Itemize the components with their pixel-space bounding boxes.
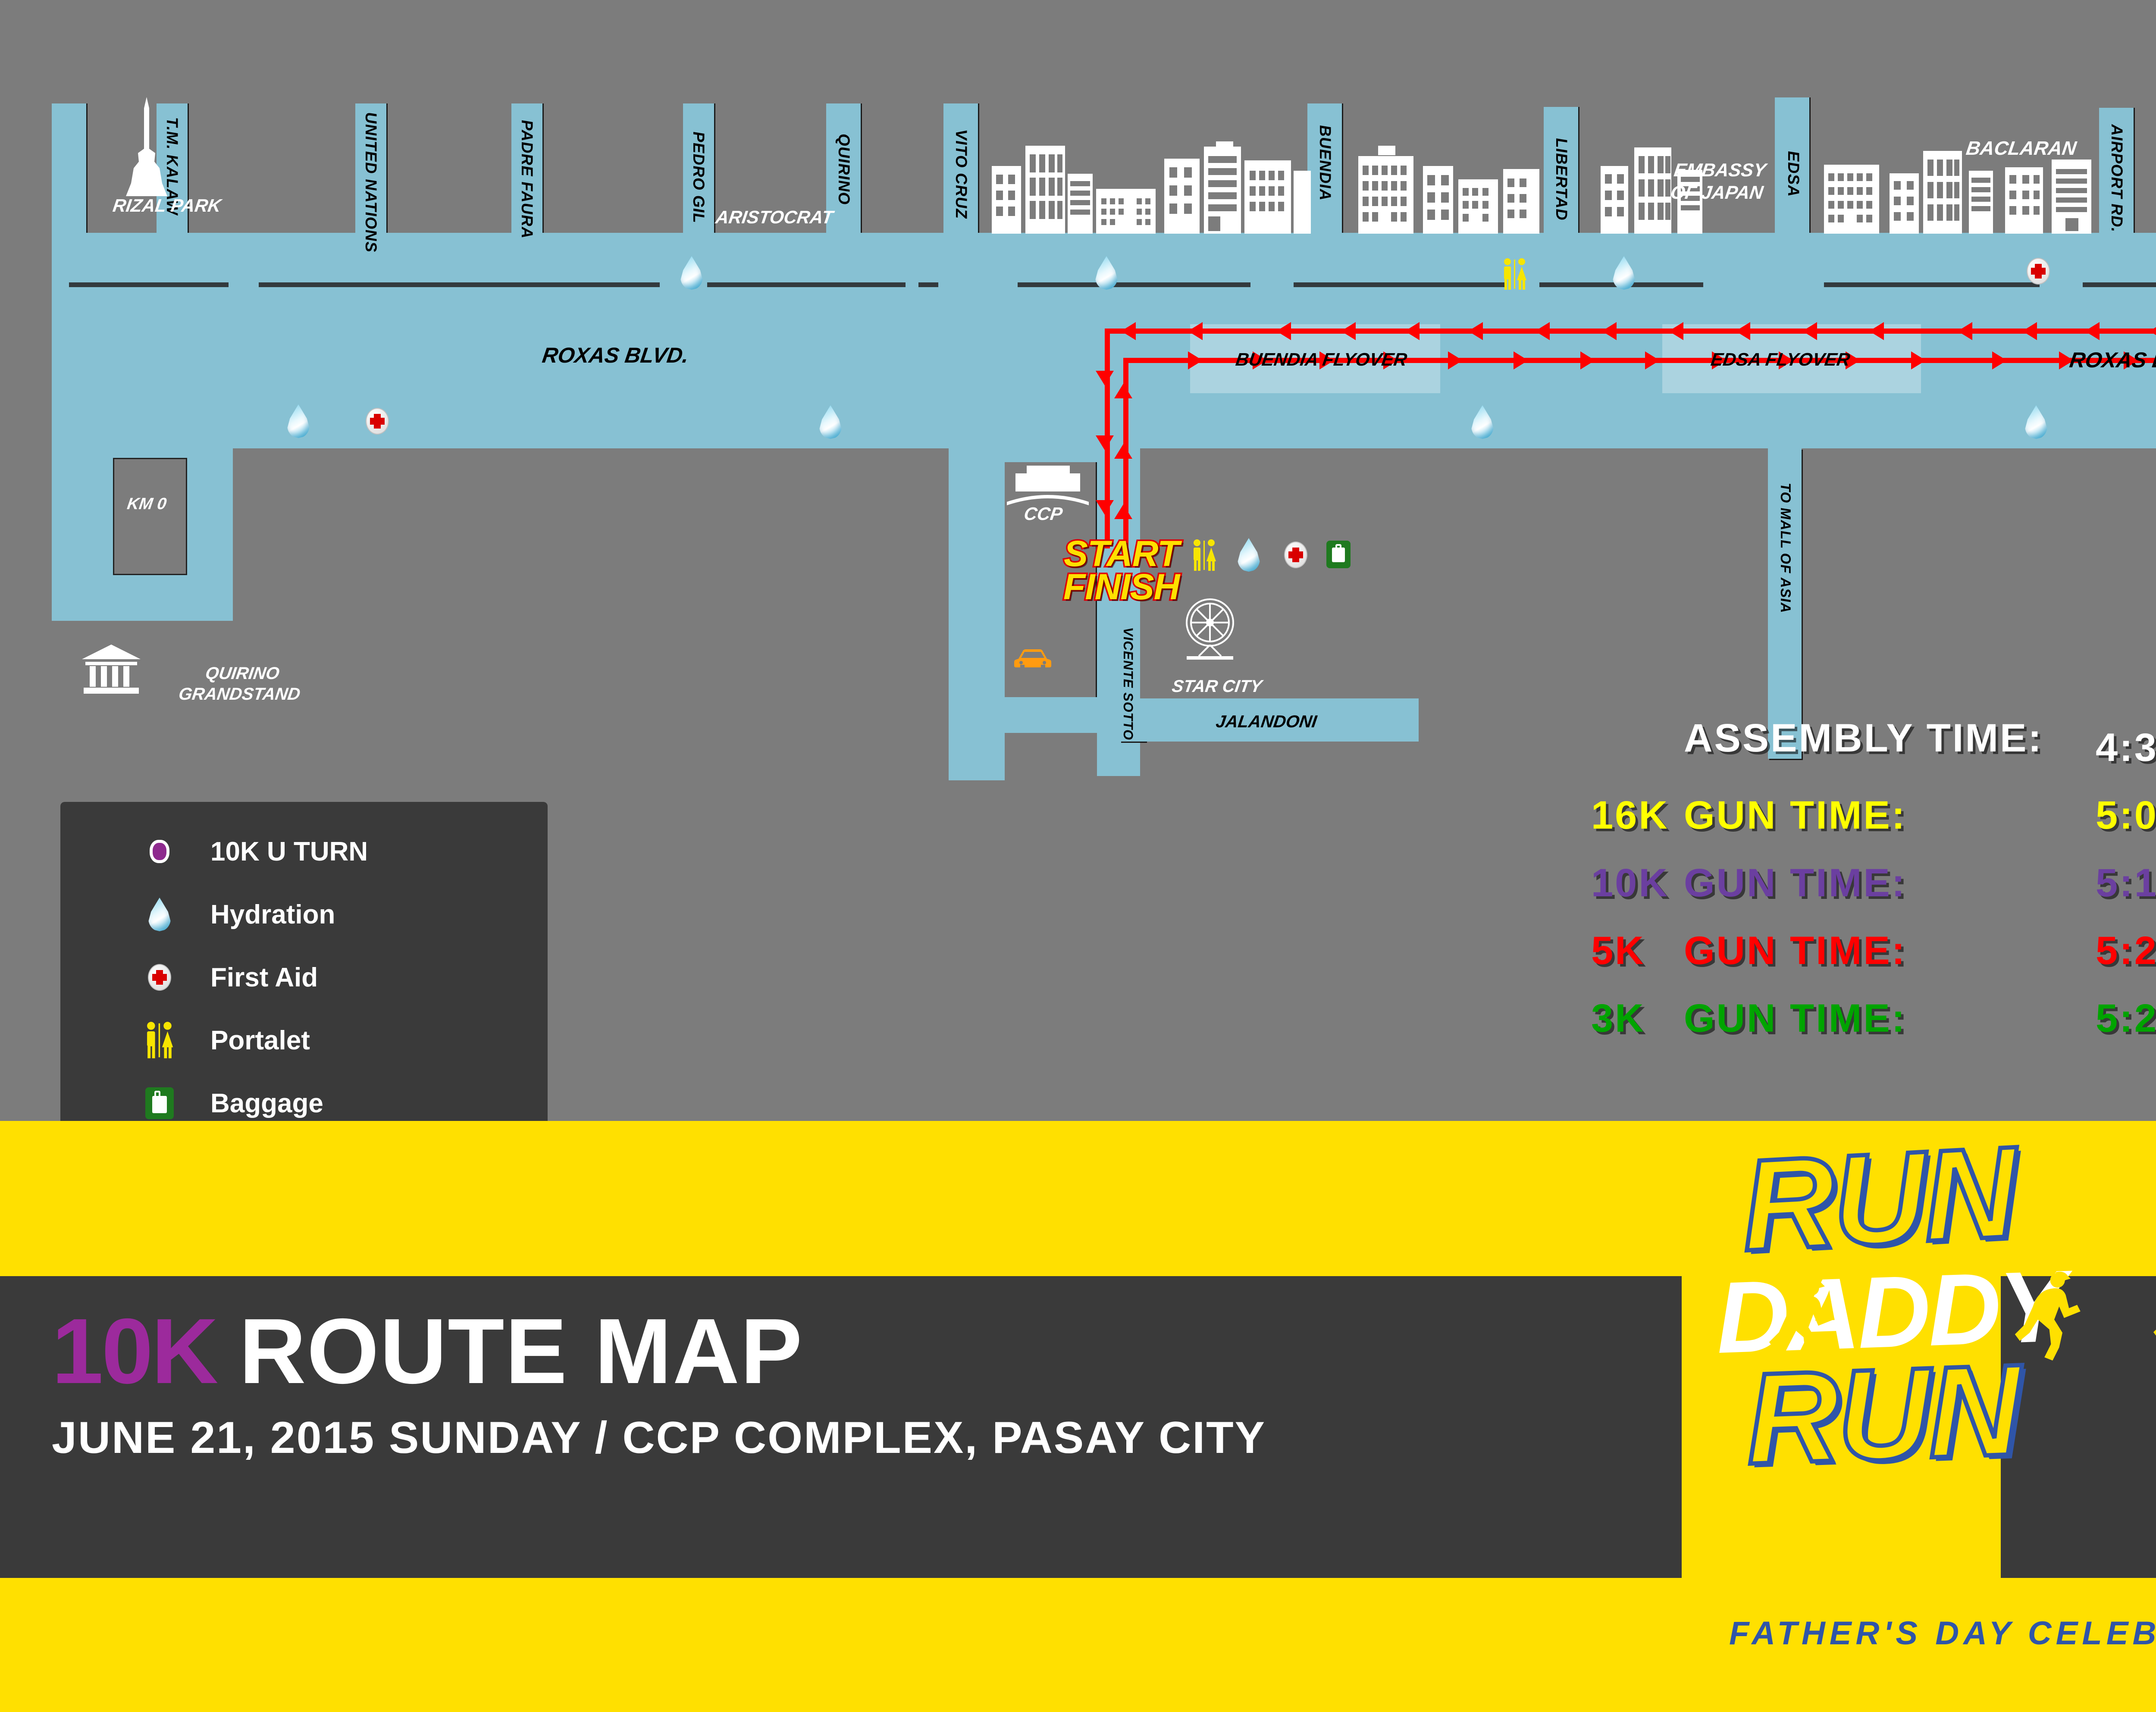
schedule-key: 10K	[1591, 861, 1684, 906]
schedule-label: GUN TIME:	[1684, 996, 1906, 1041]
street-label-edsa: EDSA	[1784, 150, 1802, 197]
uturn-marker-icon	[134, 840, 185, 863]
place-label-quirino-grandstand: QUIRINO GRANDSTAND	[177, 663, 304, 704]
legend-label: Hydration	[210, 899, 335, 930]
baggage-suitcase-icon	[134, 1087, 185, 1119]
legend-item-10k-u-turn: 10K U TURN	[60, 820, 548, 883]
restroom-figures-icon	[1501, 258, 1528, 293]
baggage-suitcase-icon	[1326, 541, 1351, 568]
street-label-to-mall-of-asia: TO MALL OF ASIA	[1777, 482, 1794, 613]
route-arrow-left	[1736, 322, 1750, 340]
schedule-value: 5:00am	[2096, 793, 2156, 838]
route-arrow-right	[1514, 351, 1528, 369]
lane-divider	[69, 282, 229, 287]
road-label-buendia-flyover: BUENDIA FLYOVER	[1235, 349, 1408, 370]
page-title-distance: 10K	[52, 1298, 216, 1405]
route-arrow-left	[1468, 322, 1483, 340]
route-arrow-left	[1869, 322, 1884, 340]
schedule-row-assembly: ASSEMBLY TIME: 4:30am	[1591, 716, 2156, 770]
street-block-left	[52, 103, 86, 233]
schedule-key	[1591, 716, 1684, 761]
poster-title-block: 10K ROUTE MAP JUNE 21, 2015 SUNDAY / CCP…	[52, 1298, 1604, 1464]
schedule-row-16k: 16KGUN TIME: 5:00am	[1591, 793, 2156, 838]
road-label-edsa-flyover: EDSA FLYOVER	[1710, 349, 1852, 370]
skyline-buildings-group-1	[992, 121, 1311, 234]
skyline-buildings-group-2	[1358, 121, 1539, 234]
route-arrow-right	[1911, 351, 1926, 369]
logo-tagline: FATHER'S DAY CELEBRATION	[1729, 1615, 2156, 1652]
finish-label: FINISH	[1063, 570, 1179, 604]
route-arrow-down	[1096, 371, 1114, 385]
schedule-label: GUN TIME:	[1684, 861, 1906, 906]
map-gray-fill-right	[1423, 448, 1768, 690]
run-daddy-run-logo: RUN DADDY RUN	[1708, 1134, 2156, 1651]
water-drop-icon	[1095, 256, 1118, 290]
event-schedule: ASSEMBLY TIME: 4:30am 16KGUN TIME: 5:00a…	[1591, 716, 2156, 1064]
first-aid-cross-icon	[366, 408, 389, 435]
schedule-value: 5:20am	[2096, 928, 2156, 973]
lane-divider	[1018, 282, 1250, 287]
restroom-figures-icon	[1191, 539, 1218, 574]
place-label-embassy-of-japan: EMBASSY OF JAPAN	[1669, 160, 1768, 204]
schedule-row-3k: 3KGUN TIME: 5:25am	[1591, 996, 2156, 1041]
street-label-airport-rd: AIRPORT RD.	[2108, 124, 2126, 232]
rizal-park-line1: RIZAL PARK	[112, 195, 222, 216]
ccp-gray-block-lower-right	[1147, 742, 1423, 780]
water-drop-icon	[287, 404, 310, 438]
schedule-value: 5:15am	[2096, 861, 2156, 906]
first-aid-cross-icon	[1284, 541, 1307, 568]
runner-silhouette-icon	[1759, 1276, 1841, 1375]
place-label-km0: KM 0	[126, 495, 168, 513]
schedule-key: 16K	[1591, 793, 1684, 838]
legend-label: First Aid	[210, 962, 318, 993]
water-drop-icon	[1613, 256, 1635, 290]
street-label-quirino: QUIRINO	[835, 133, 853, 205]
route-horizontal-in	[1105, 329, 2156, 334]
street-label-vito-cruz: VITO CRUZ	[952, 129, 970, 219]
ccp-block-road-b	[949, 742, 1005, 780]
route-arrow-left	[2022, 322, 2037, 340]
legend-item-portalet: Portalet	[60, 1009, 548, 1072]
lane-divider	[2083, 282, 2156, 287]
page-subtitle: JUNE 21, 2015 SUNDAY / CCP COMPLEX, PASA…	[52, 1412, 1604, 1464]
place-label-baclaran: BACLARAN	[1965, 137, 2078, 160]
schedule-label: ASSEMBLY TIME:	[1684, 716, 2043, 761]
logo-word-run-top: RUN	[1739, 1127, 2018, 1271]
restroom-figures-icon	[134, 1021, 185, 1059]
water-drop-icon	[680, 256, 703, 290]
route-arrow-left	[1535, 322, 1550, 340]
water-drop-icon	[134, 898, 185, 931]
lane-divider	[259, 282, 660, 287]
route-arrow-left	[1958, 322, 1972, 340]
legend-item-first-aid: First Aid	[60, 946, 548, 1009]
lane-divider	[918, 282, 938, 287]
start-finish-label: START FINISH	[1063, 537, 1179, 604]
legend-label: Portalet	[210, 1025, 310, 1056]
road-label-jalandoni: JALANDONI	[1215, 712, 1318, 732]
schedule-label: GUN TIME:	[1684, 793, 1906, 838]
route-arrow-left	[1121, 322, 1136, 340]
water-drop-icon	[1471, 405, 1494, 439]
page-title: ROUTE MAP	[239, 1298, 803, 1405]
street-label-padre-faura: PADRE FAURA	[518, 119, 536, 239]
place-label-star-city: STAR CITY	[1171, 677, 1263, 696]
legend-label: Baggage	[210, 1088, 323, 1119]
route-arrow-left	[1802, 322, 1817, 340]
place-label-rizal-park: RIZAL PARK	[112, 196, 222, 215]
route-arrow-right	[1580, 351, 1595, 369]
water-drop-icon	[1238, 538, 1260, 572]
runner-silhouette-icon	[2143, 1263, 2156, 1367]
legend-label: 10K U TURN	[210, 836, 368, 867]
lane-divider	[707, 282, 906, 287]
street-label-libertad: LIBERTAD	[1552, 138, 1570, 221]
schedule-key: 5K	[1591, 928, 1684, 973]
road-label-roxas-blvd-left: ROXAS BLVD.	[541, 343, 690, 368]
schedule-row-10k: 10KGUN TIME: 5:15am	[1591, 861, 2156, 906]
route-arrow-down	[1096, 435, 1114, 450]
water-drop-icon	[2025, 405, 2047, 439]
route-arrow-right	[1645, 351, 1660, 369]
schedule-label: GUN TIME:	[1684, 928, 1906, 973]
route-arrow-left	[1669, 322, 1683, 340]
route-arrow-right	[1448, 351, 1463, 369]
route-arrow-down	[1096, 500, 1114, 515]
street-label-buendia: BUENDIA	[1316, 125, 1334, 201]
route-arrow-left	[1602, 322, 1617, 340]
starcity-gray-block	[1147, 462, 1423, 698]
route-arrow-left	[1276, 322, 1291, 340]
first-aid-cross-icon	[134, 964, 185, 991]
route-arrow-up	[1114, 444, 1132, 459]
water-drop-icon	[819, 405, 842, 439]
route-arrow-left	[1405, 322, 1420, 340]
place-label-aristocrat: ARISTOCRAT	[714, 207, 834, 228]
car-icon	[1014, 647, 1051, 673]
schedule-key: 3K	[1591, 996, 1684, 1041]
route-arrow-right	[1188, 351, 1203, 369]
street-label-united-nations: UNITED NATIONS	[362, 112, 380, 253]
place-label-ccp: CCP	[1023, 504, 1064, 524]
schedule-row-5k: 5KGUN TIME: 5:20am	[1591, 928, 2156, 973]
first-aid-cross-icon	[2027, 258, 2050, 285]
lane-divider	[1294, 282, 1505, 287]
route-arrow-right	[1992, 351, 2007, 369]
route-arrow-left	[1341, 322, 1356, 340]
schedule-value: 5:25am	[2096, 996, 2156, 1041]
route-arrow-up	[1114, 384, 1132, 398]
schedule-value: 4:30am	[2096, 725, 2156, 770]
ferris-wheel-icon	[1180, 596, 1240, 660]
start-label: START	[1063, 537, 1179, 570]
route-arrow-left	[2150, 322, 2156, 340]
ccp-gray-block-lower-left	[1005, 733, 1097, 780]
route-arrow-left	[2085, 322, 2100, 340]
km0-block	[113, 458, 187, 575]
route-arrow-up	[1114, 504, 1132, 519]
legend-item-hydration: Hydration	[60, 883, 548, 946]
lane-divider	[1824, 282, 2040, 287]
street-label-pedro-gil: PEDRO GIL	[689, 131, 708, 223]
ccp-building-icon	[1007, 466, 1089, 505]
road-label-roxas-blvd-right: ROXAS BLVD.	[2068, 347, 2156, 372]
grandstand-icon	[81, 645, 141, 695]
runner-silhouette-icon	[2005, 1268, 2087, 1368]
route-arrow-left	[1188, 322, 1203, 340]
street-label-vicente-sotto: VICENTE SOTTO	[1120, 627, 1136, 740]
